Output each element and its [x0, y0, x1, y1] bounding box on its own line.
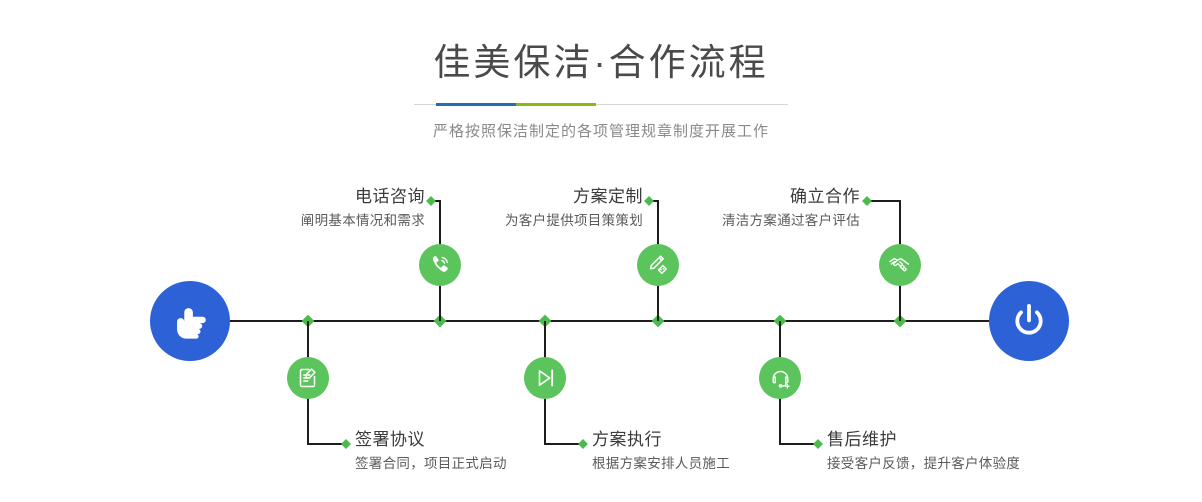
pointing-hand-icon: [167, 298, 213, 344]
customer-service-icon: [768, 366, 793, 391]
document-sign-icon: [296, 366, 320, 390]
step-node-plan-execution[interactable]: [524, 357, 566, 399]
step-node-sign-agreement[interactable]: [287, 357, 329, 399]
phone-call-icon: [428, 253, 452, 277]
play-execute-icon: [533, 366, 557, 390]
step-node-plan-customization[interactable]: [637, 244, 679, 286]
connector-arm: [868, 200, 900, 202]
step-label-after-sales-service: 售后维护 接受客户反馈，提升客户体验度: [827, 429, 1147, 473]
step-title: 确立合作: [595, 186, 860, 207]
process-flow-diagram: 电话咨询 阐明基本情况和需求 方案定制 为客户提供项目策策划 确立合作 清洁方案…: [0, 0, 1202, 502]
step-title: 售后维护: [827, 429, 1147, 450]
step-label-establish-cooperation: 确立合作 清洁方案通过客户评估: [595, 186, 860, 230]
connector-tip-marker: [862, 196, 872, 206]
step-node-establish-cooperation[interactable]: [879, 244, 921, 286]
step-desc: 清洁方案通过客户评估: [595, 212, 860, 230]
connector-arm: [307, 443, 345, 445]
flow-end-node[interactable]: [989, 281, 1069, 361]
step-node-phone-consultation[interactable]: [419, 244, 461, 286]
step-node-after-sales-service[interactable]: [759, 357, 801, 399]
step-desc: 接受客户反馈，提升客户体验度: [827, 455, 1147, 473]
connector-tip-marker: [341, 439, 351, 449]
flow-start-node[interactable]: [150, 281, 230, 361]
power-button-icon: [1007, 299, 1051, 343]
timeline-axis: [230, 320, 1000, 322]
pencil-ruler-icon: [646, 253, 670, 277]
handshake-icon: [887, 252, 913, 278]
